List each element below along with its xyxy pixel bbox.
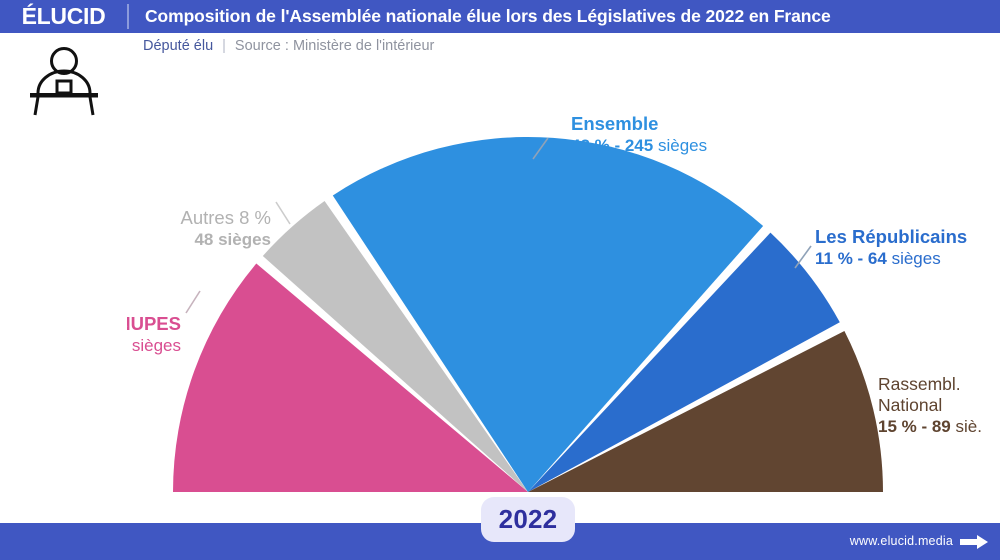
infographic-page: ÉLUCID Composition de l'Assemblée nation… xyxy=(0,0,1000,560)
leader-line-nupes xyxy=(186,291,200,313)
slice-label-ensemble: Ensemble 43 % - 245 sièges xyxy=(571,113,707,156)
slice-label-lr-name: Les Républicains xyxy=(815,226,967,249)
header-bar: ÉLUCID Composition de l'Assemblée nation… xyxy=(0,0,1000,33)
slice-unit-rn: siè. xyxy=(956,417,982,436)
slice-label-rassemblement-national: Rassembl. National 15 % - 89 siè. xyxy=(878,374,982,437)
deputy-podium-icon xyxy=(24,45,104,122)
slice-label-autres-value: 48 sièges xyxy=(153,230,271,251)
slice-label-ensemble-name: Ensemble xyxy=(571,113,707,136)
footer-website-url: www.elucid.media xyxy=(850,534,953,548)
slice-label-autres: Autres 8 % 48 sièges xyxy=(153,207,271,250)
slice-label-rn-name2: National xyxy=(878,395,982,416)
elucid-arrow-icon xyxy=(960,535,988,556)
slice-value-ensemble: 43 % - 245 xyxy=(571,136,653,155)
leader-line-autres xyxy=(276,202,290,224)
slice-label-ensemble-value: 43 % - 245 sièges xyxy=(571,136,707,157)
hemicycle-svg xyxy=(0,33,1000,523)
leader-line-lr xyxy=(795,246,811,268)
slice-unit-nupes: sièges xyxy=(132,336,181,355)
slice-value-rn: 15 % - 89 xyxy=(878,417,951,436)
slice-value-autres: 48 sièges xyxy=(194,230,271,249)
hemicycle-chart: 2022 Ensemble 43 % - 245 sièges Les Répu… xyxy=(0,33,1000,523)
slice-label-autres-name: Autres 8 % xyxy=(153,207,271,230)
slice-label-rn-name: Rassembl. xyxy=(878,374,982,395)
slice-label-lr-value: 11 % - 64 sièges xyxy=(815,249,967,270)
slice-label-rn-value: 15 % - 89 siè. xyxy=(878,417,982,438)
slice-label-les-republicains: Les Républicains 11 % - 64 sièges xyxy=(815,226,967,269)
page-title: Composition de l'Assemblée nationale élu… xyxy=(129,6,831,27)
year-badge-label: 2022 xyxy=(499,504,558,535)
logo-panel xyxy=(0,33,127,523)
slice-value-lr: 11 % - 64 xyxy=(815,249,887,268)
slice-unit-lr: sièges xyxy=(892,249,941,268)
slice-unit-ensemble: sièges xyxy=(658,136,707,155)
brand-logo: ÉLUCID xyxy=(0,0,127,33)
pie-slices xyxy=(173,137,883,492)
brand-name: ÉLUCID xyxy=(22,3,106,30)
year-badge: 2022 xyxy=(481,497,575,542)
